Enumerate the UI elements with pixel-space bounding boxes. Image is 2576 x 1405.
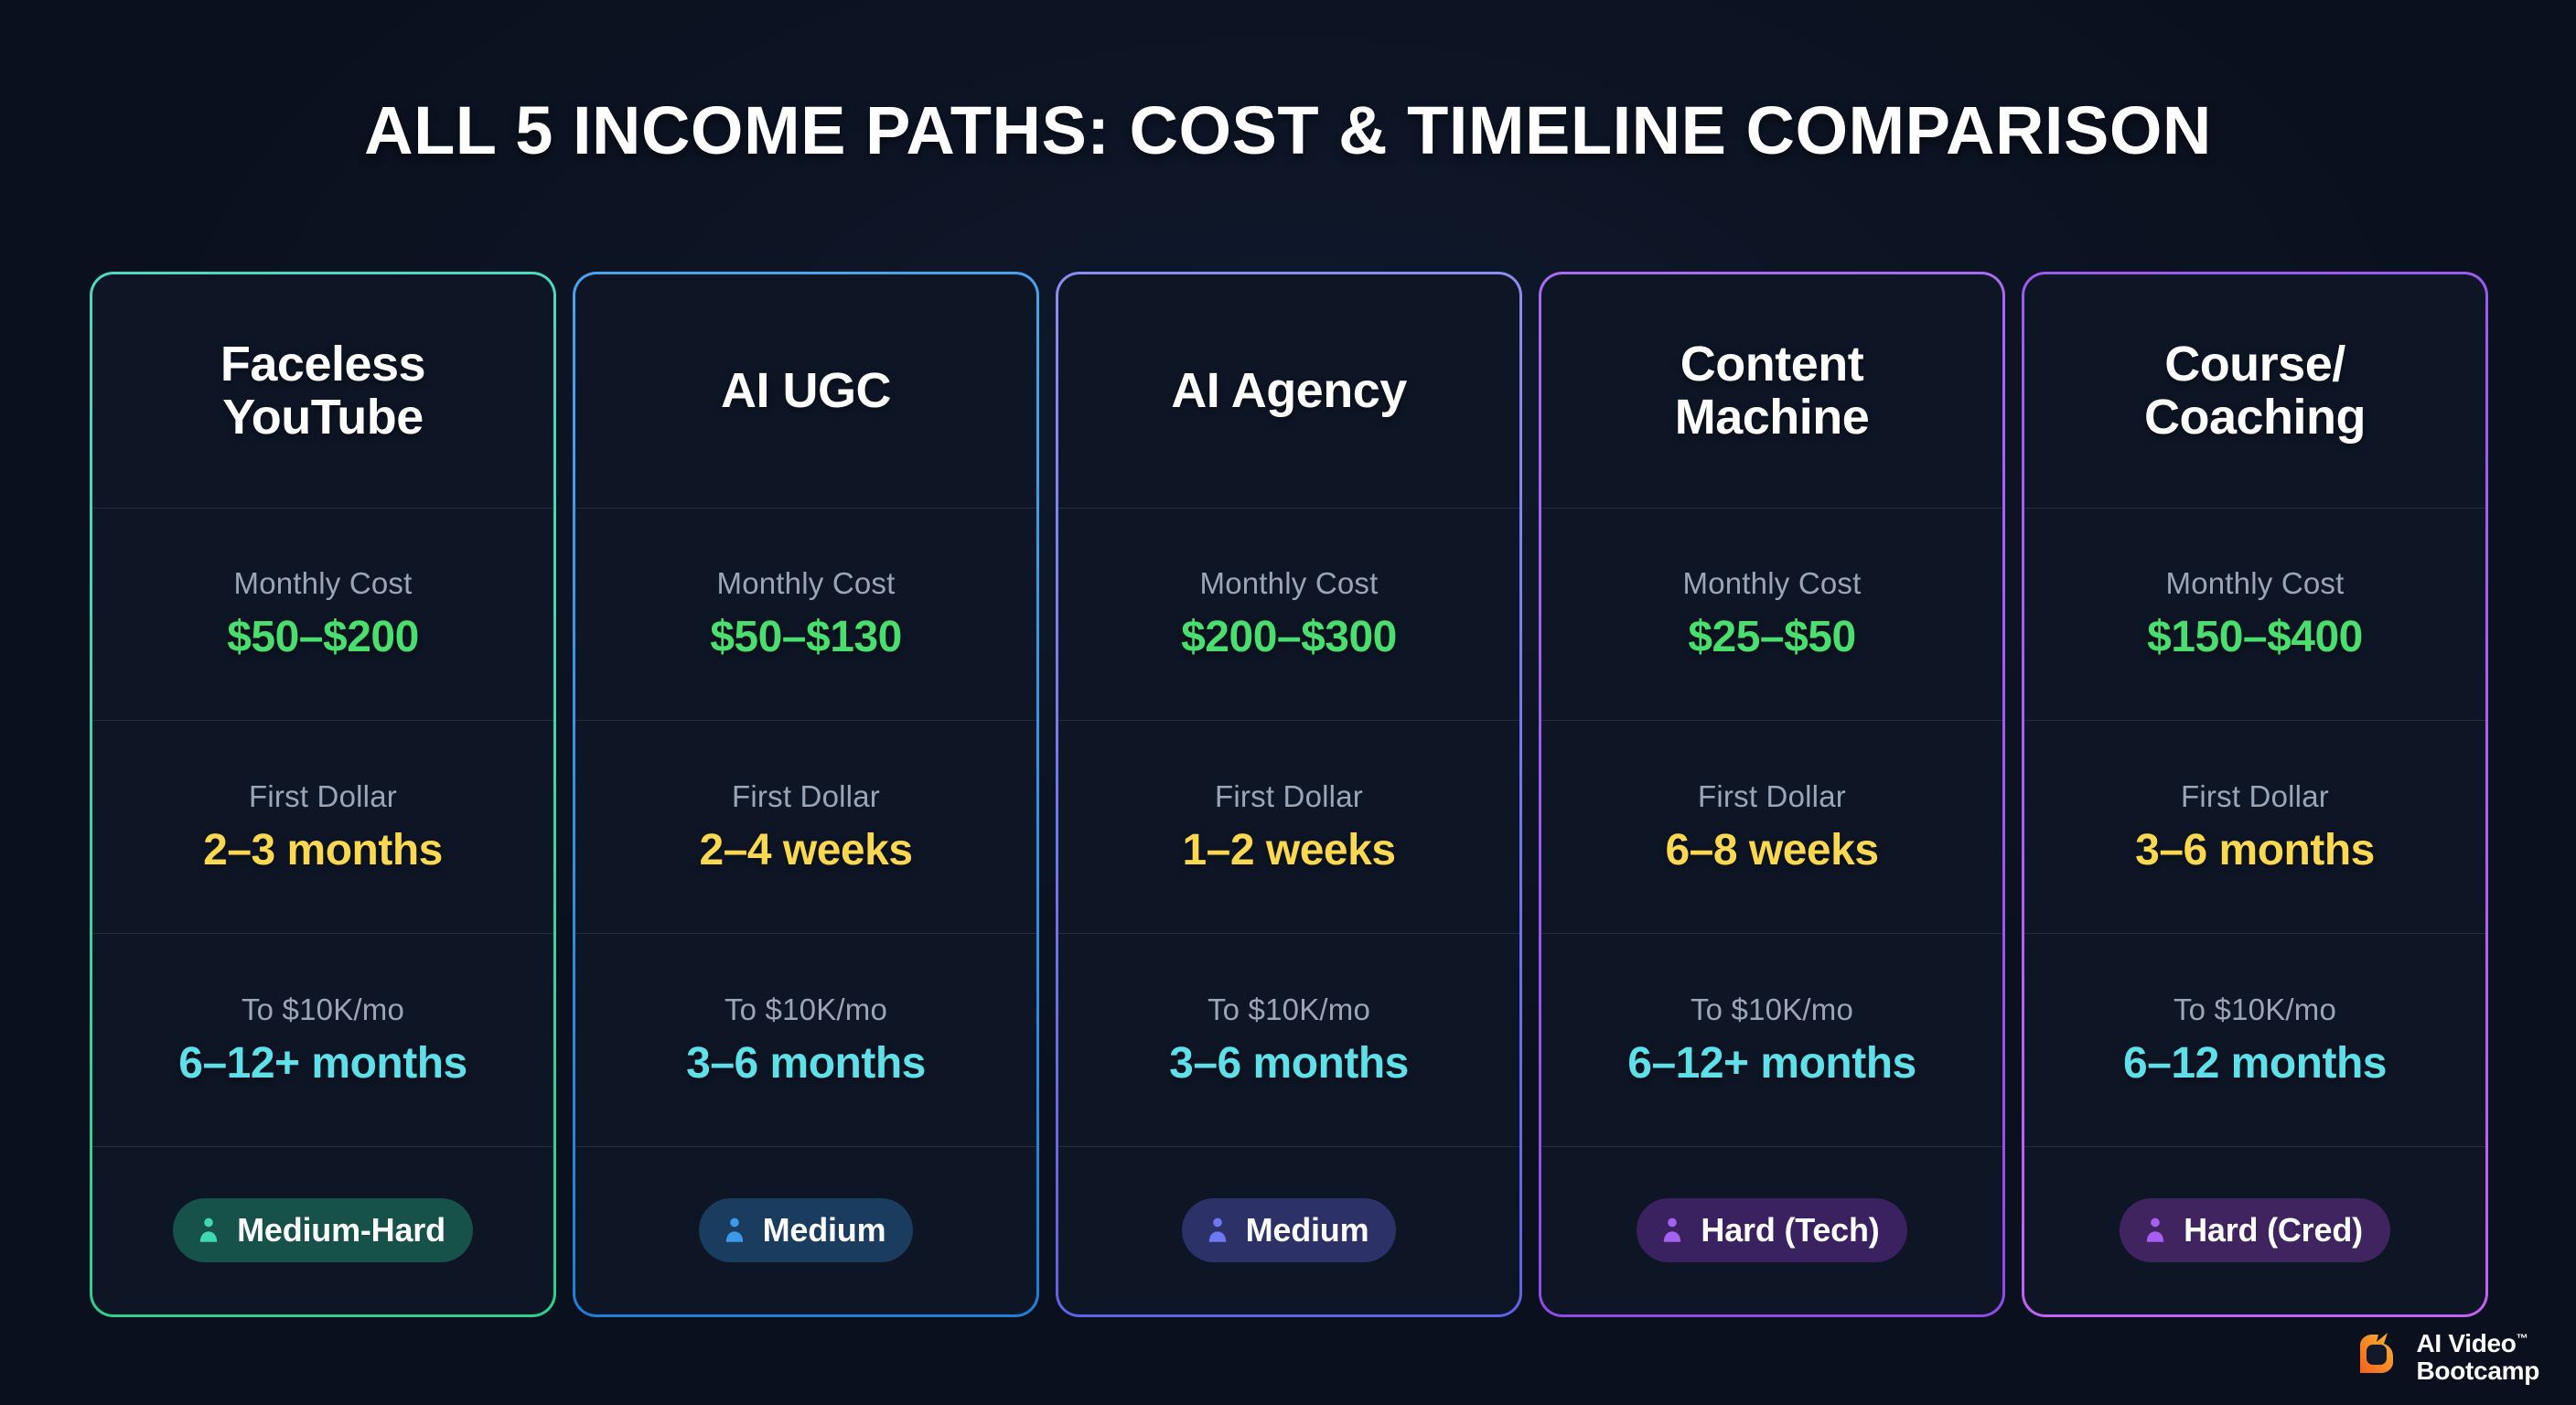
row-first-dollar: First Dollar6–8 weeks <box>1541 720 2002 933</box>
brand-logo: AI Video™ Bootcamp <box>2351 1329 2540 1385</box>
row-label-to-ten-k: To $10K/mo <box>241 992 404 1027</box>
path-card[interactable]: FacelessYouTubeMonthly Cost$50–$200First… <box>90 272 556 1317</box>
row-label-to-ten-k: To $10K/mo <box>2173 992 2336 1027</box>
row-value-to-ten-k: 6–12+ months <box>178 1038 467 1089</box>
row-value-first-dollar: 2–4 weeks <box>699 825 912 875</box>
difficulty-badge[interactable]: Hard (Tech) <box>1637 1198 1906 1262</box>
card-header: ContentMachine <box>1541 274 2002 508</box>
card-title: FacelessYouTube <box>220 338 425 445</box>
row-label-monthly-cost: Monthly Cost <box>717 566 896 601</box>
row-first-dollar: First Dollar3–6 months <box>2024 720 2485 933</box>
logo-wordmark: AI Video™ Bootcamp <box>2417 1330 2540 1384</box>
row-first-dollar: First Dollar2–3 months <box>92 720 553 933</box>
card-title-line1: Course/ <box>2164 337 2345 391</box>
row-value-to-ten-k: 3–6 months <box>1169 1038 1409 1089</box>
row-value-monthly-cost: $200–$300 <box>1181 612 1397 662</box>
difficulty-badge-label: Medium <box>763 1211 886 1249</box>
row-label-to-ten-k: To $10K/mo <box>1207 992 1370 1027</box>
infographic-root: ALL 5 INCOME PATHS: COST & TIMELINE COMP… <box>0 0 2576 1405</box>
difficulty-badge-label: Hard (Tech) <box>1701 1211 1879 1249</box>
card-body: ContentMachineMonthly Cost$25–$50First D… <box>1541 274 2002 1314</box>
row-to-ten-k: To $10K/mo6–12 months <box>2024 933 2485 1146</box>
logo-line2: Bootcamp <box>2417 1357 2540 1384</box>
row-to-ten-k: To $10K/mo3–6 months <box>1058 933 1519 1146</box>
card-footer: Medium <box>1058 1146 1519 1314</box>
row-label-first-dollar: First Dollar <box>2181 779 2329 814</box>
row-label-first-dollar: First Dollar <box>1215 779 1363 814</box>
path-card[interactable]: AI AgencyMonthly Cost$200–$300First Doll… <box>1056 272 1522 1317</box>
row-label-first-dollar: First Dollar <box>1698 779 1846 814</box>
difficulty-badge[interactable]: Medium <box>1182 1198 1397 1262</box>
card-body: AI AgencyMonthly Cost$200–$300First Doll… <box>1058 274 1519 1314</box>
path-card[interactable]: AI UGCMonthly Cost$50–$130First Dollar2–… <box>573 272 1039 1317</box>
row-value-to-ten-k: 6–12+ months <box>1627 1038 1916 1089</box>
row-value-first-dollar: 2–3 months <box>203 825 443 875</box>
card-body: Course/CoachingMonthly Cost$150–$400Firs… <box>2024 274 2485 1314</box>
row-label-monthly-cost: Monthly Cost <box>1683 566 1862 601</box>
row-monthly-cost: Monthly Cost$25–$50 <box>1541 508 2002 721</box>
difficulty-badge[interactable]: Medium <box>699 1198 914 1262</box>
row-first-dollar: First Dollar2–4 weeks <box>575 720 1036 933</box>
card-header: Course/Coaching <box>2024 274 2485 508</box>
row-first-dollar: First Dollar1–2 weeks <box>1058 720 1519 933</box>
row-monthly-cost: Monthly Cost$50–$200 <box>92 508 553 721</box>
person-icon <box>193 1215 224 1246</box>
flame-bubble-icon <box>2351 1329 2402 1385</box>
card-title: AI Agency <box>1171 364 1407 417</box>
difficulty-badge-label: Hard (Cred) <box>2184 1211 2363 1249</box>
row-value-monthly-cost: $150–$400 <box>2147 612 2363 662</box>
row-label-monthly-cost: Monthly Cost <box>234 566 413 601</box>
logo-line1: AI Video <box>2417 1329 2517 1357</box>
row-monthly-cost: Monthly Cost$200–$300 <box>1058 508 1519 721</box>
row-value-first-dollar: 1–2 weeks <box>1182 825 1395 875</box>
card-title: Course/Coaching <box>2144 338 2366 445</box>
difficulty-badge-label: Medium <box>1246 1211 1369 1249</box>
row-label-to-ten-k: To $10K/mo <box>724 992 887 1027</box>
row-monthly-cost: Monthly Cost$50–$130 <box>575 508 1036 721</box>
card-header: FacelessYouTube <box>92 274 553 508</box>
row-value-first-dollar: 6–8 weeks <box>1665 825 1878 875</box>
row-value-monthly-cost: $50–$200 <box>227 612 419 662</box>
card-title-line1: Content <box>1680 337 1863 391</box>
card-footer: Medium-Hard <box>92 1146 553 1314</box>
person-icon <box>1657 1215 1688 1246</box>
card-title-line1: Faceless <box>220 337 425 391</box>
row-label-monthly-cost: Monthly Cost <box>1200 566 1379 601</box>
path-card[interactable]: ContentMachineMonthly Cost$25–$50First D… <box>1539 272 2005 1317</box>
card-title-line2: Machine <box>1675 390 1870 445</box>
path-card[interactable]: Course/CoachingMonthly Cost$150–$400Firs… <box>2022 272 2488 1317</box>
row-value-to-ten-k: 6–12 months <box>2123 1038 2387 1089</box>
row-to-ten-k: To $10K/mo6–12+ months <box>1541 933 2002 1146</box>
card-footer: Hard (Cred) <box>2024 1146 2485 1314</box>
page-title: ALL 5 INCOME PATHS: COST & TIMELINE COMP… <box>0 91 2576 169</box>
logo-trademark: ™ <box>2517 1332 2528 1346</box>
card-title-line1: AI Agency <box>1171 363 1407 418</box>
row-label-first-dollar: First Dollar <box>732 779 880 814</box>
difficulty-badge[interactable]: Hard (Cred) <box>2120 1198 2390 1262</box>
difficulty-badge[interactable]: Medium-Hard <box>173 1198 473 1262</box>
card-title: AI UGC <box>721 364 891 417</box>
row-to-ten-k: To $10K/mo3–6 months <box>575 933 1036 1146</box>
card-title-line1: AI UGC <box>721 363 891 418</box>
row-label-first-dollar: First Dollar <box>249 779 397 814</box>
card-footer: Medium <box>575 1146 1036 1314</box>
person-icon <box>2140 1215 2171 1246</box>
card-title-line2: Coaching <box>2144 390 2366 445</box>
card-footer: Hard (Tech) <box>1541 1146 2002 1314</box>
person-icon <box>719 1215 750 1246</box>
row-value-first-dollar: 3–6 months <box>2135 825 2375 875</box>
row-label-monthly-cost: Monthly Cost <box>2166 566 2345 601</box>
person-icon <box>1202 1215 1233 1246</box>
row-monthly-cost: Monthly Cost$150–$400 <box>2024 508 2485 721</box>
card-body: AI UGCMonthly Cost$50–$130First Dollar2–… <box>575 274 1036 1314</box>
row-value-to-ten-k: 3–6 months <box>686 1038 926 1089</box>
difficulty-badge-label: Medium-Hard <box>237 1211 445 1249</box>
row-label-to-ten-k: To $10K/mo <box>1690 992 1853 1027</box>
comparison-grid: FacelessYouTubeMonthly Cost$50–$200First… <box>90 272 2488 1317</box>
row-value-monthly-cost: $25–$50 <box>1688 612 1855 662</box>
row-to-ten-k: To $10K/mo6–12+ months <box>92 933 553 1146</box>
card-header: AI Agency <box>1058 274 1519 508</box>
card-title: ContentMachine <box>1675 338 1870 445</box>
row-value-monthly-cost: $50–$130 <box>710 612 902 662</box>
card-header: AI UGC <box>575 274 1036 508</box>
card-title-line2: YouTube <box>222 390 423 445</box>
card-body: FacelessYouTubeMonthly Cost$50–$200First… <box>92 274 553 1314</box>
